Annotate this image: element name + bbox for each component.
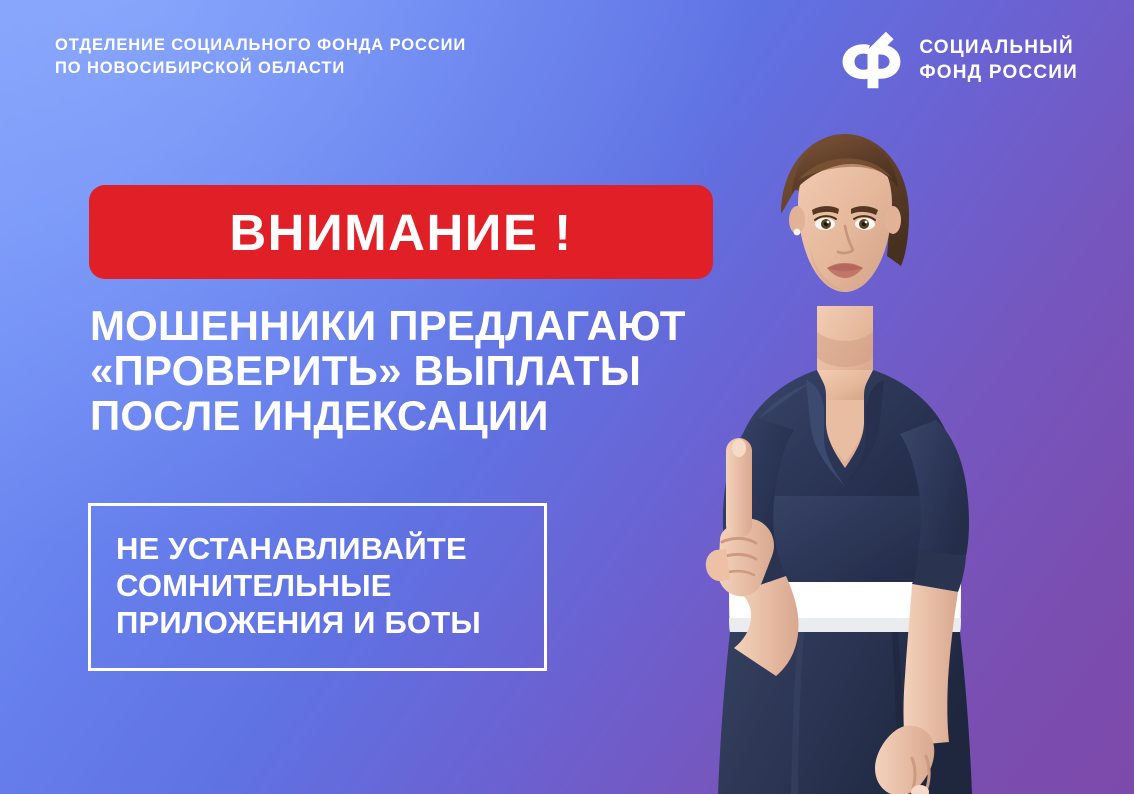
warning-box: НЕ УСТАНАВЛИВАЙТЕ СОМНИТЕЛЬНЫЕ ПРИЛОЖЕНИ… [88, 503, 547, 671]
organization-name: ОТДЕЛЕНИЕ СОЦИАЛЬНОГО ФОНДА РОССИИ ПО НО… [55, 34, 466, 80]
sfr-monogram-icon [841, 31, 903, 89]
warning-box-text: НЕ УСТАНАВЛИВАЙТЕ СОМНИТЕЛЬНЫЕ ПРИЛОЖЕНИ… [116, 530, 481, 641]
brand-lockup: СОЦИАЛЬНЫЙ ФОНД РОССИИ [841, 31, 1078, 89]
headline-text: МОШЕННИКИ ПРЕДЛАГАЮТ «ПРОВЕРИТЬ» ВЫПЛАТЫ… [90, 303, 730, 438]
attention-banner-label: ВНИМАНИЕ ! [229, 207, 572, 258]
poster-canvas: ОТДЕЛЕНИЕ СОЦИАЛЬНОГО ФОНДА РОССИИ ПО НО… [0, 0, 1134, 794]
brand-name: СОЦИАЛЬНЫЙ ФОНД РОССИИ [919, 35, 1078, 85]
attention-banner: ВНИМАНИЕ ! [89, 185, 713, 279]
